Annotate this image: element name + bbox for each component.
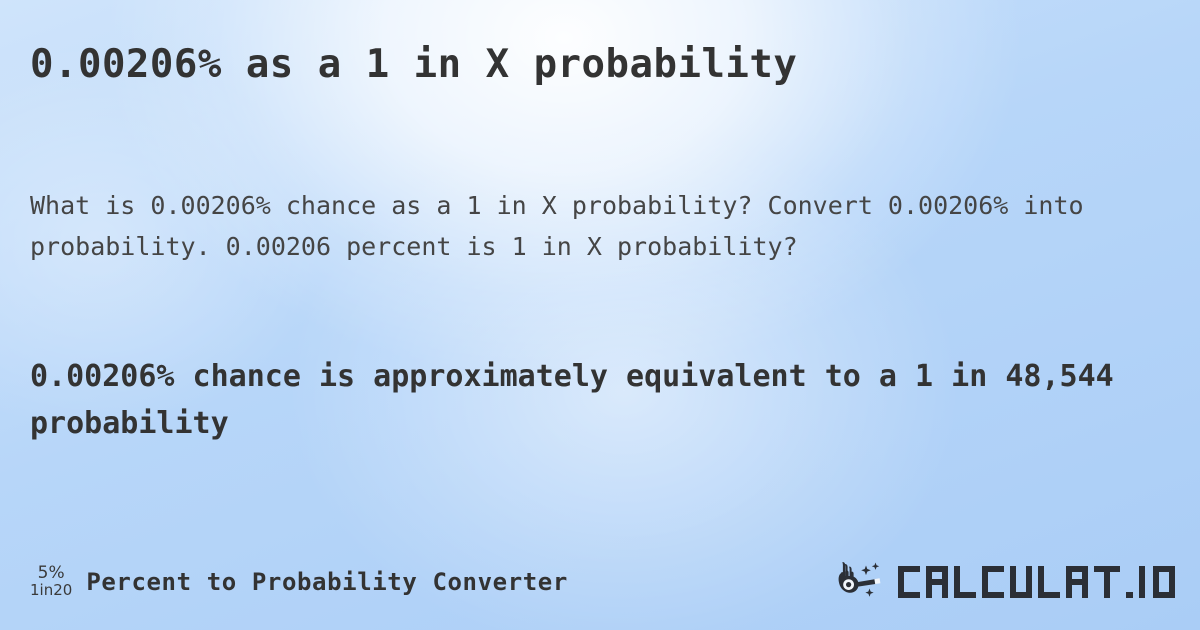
brand-logo[interactable]: CALCULAT.IO (836, 552, 1182, 612)
intro-description: What is 0.00206% chance as a 1 in X prob… (30, 186, 1120, 267)
page-title: 0.00206% as a 1 in X probability (30, 42, 1170, 88)
tool-name-label: Percent to Probability Converter (86, 568, 568, 596)
card-footer: 5% 1in20 Percent to Probability Converte… (0, 552, 1200, 612)
conversion-result: 0.00206% chance is approximately equival… (30, 354, 1175, 447)
hand-magic-wand-icon (836, 560, 892, 604)
brand-wordmark (896, 560, 1182, 604)
badge-bottom-label: 1in20 (30, 583, 72, 599)
footer-tool-group: 5% 1in20 Percent to Probability Converte… (30, 552, 568, 612)
percent-to-probability-badge-icon: 5% 1in20 (30, 565, 72, 599)
share-card: 0.00206% as a 1 in X probability What is… (0, 0, 1200, 630)
card-content: 0.00206% as a 1 in X probability What is… (0, 0, 1200, 630)
